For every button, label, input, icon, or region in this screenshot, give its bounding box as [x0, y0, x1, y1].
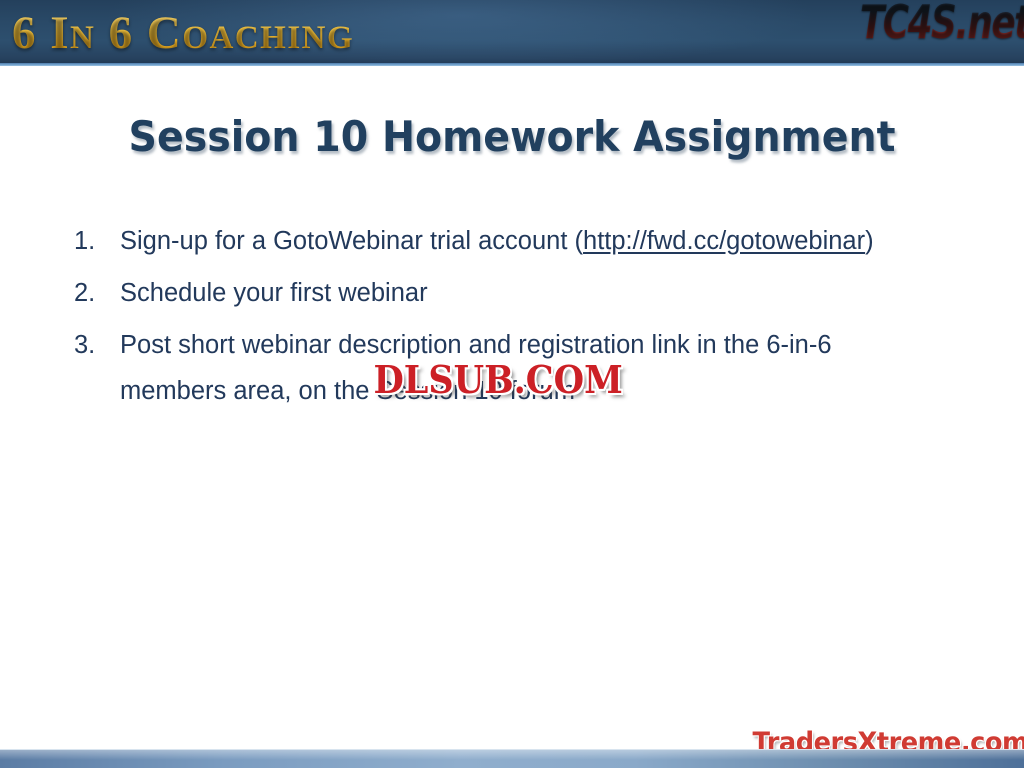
- dlsub-watermark: DLSUB.COM: [367, 357, 629, 405]
- list-item-number: 3.: [74, 322, 120, 368]
- list-item-text-after: ): [865, 227, 874, 255]
- slide-footer-band: [0, 749, 1024, 768]
- list-item: 1. Sign-up for a GotoWebinar trial accou…: [74, 218, 984, 264]
- list-item: 2. Schedule your first webinar: [74, 270, 984, 316]
- list-item-number: 1.: [74, 218, 120, 264]
- brand-title: 6 In 6 Coaching: [12, 3, 354, 63]
- page-title: Session 10 Homework Assignment: [31, 112, 994, 161]
- list-item-text-before: Sign-up for a GotoWebinar trial account …: [120, 227, 583, 255]
- list-item-number: 2.: [74, 270, 120, 316]
- slide-header-band: 6 In 6 Coaching TC4S.net: [0, 0, 1024, 66]
- list-item-text: Schedule your first webinar: [120, 270, 940, 316]
- gotowebinar-link[interactable]: http://fwd.cc/gotowebinar: [583, 227, 865, 255]
- tc4s-site-logo: TC4S.net: [860, 0, 1024, 48]
- list-item-text: Sign-up for a GotoWebinar trial account …: [120, 218, 940, 264]
- presentation-slide: 6 In 6 Coaching TC4S.net Session 10 Home…: [0, 0, 1024, 768]
